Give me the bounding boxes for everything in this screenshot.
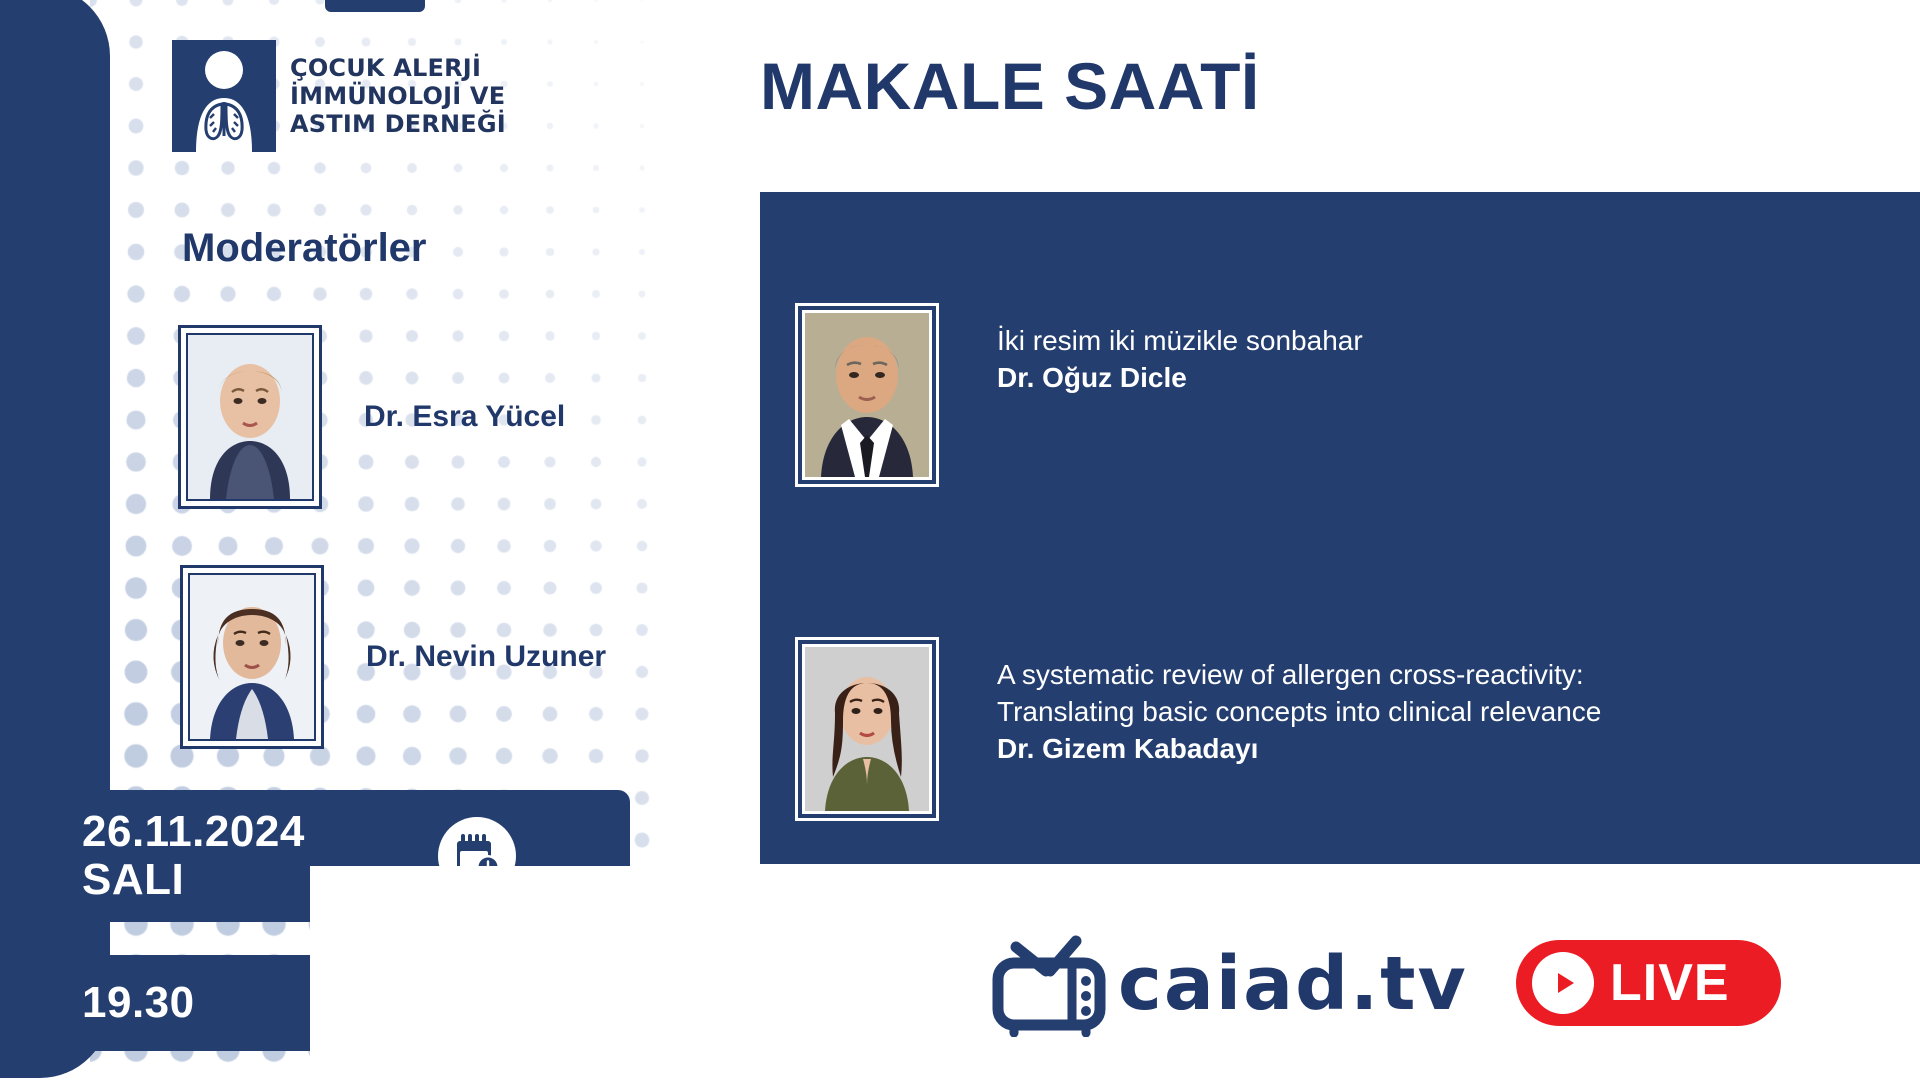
top-accent-tab (325, 0, 425, 12)
live-label: LIVE (1610, 953, 1730, 1013)
time-pill: 19.30 (0, 955, 342, 1051)
program-person: Dr. Oğuz Dicle (997, 362, 1363, 394)
moderators-heading: Moderatörler (182, 226, 427, 271)
live-badge[interactable]: LIVE (1516, 940, 1781, 1026)
event-time: 19.30 (82, 978, 195, 1028)
moderator-item: Dr. Nevin Uzuner (180, 565, 606, 749)
caiad-tv-label: caiad.tv (1118, 941, 1468, 1027)
association-logo: ÇOCUK ALERJİ İMMÜNOLOJİ VE ASTIM DERNEĞİ (172, 40, 506, 152)
program-person: Dr. Gizem Kabadayı (997, 733, 1601, 765)
program-entry: A systematic review of allergen cross-re… (795, 637, 1601, 821)
program-entry-text: A systematic review of allergen cross-re… (997, 637, 1601, 765)
program-topic: A systematic review of allergen cross-re… (997, 657, 1601, 731)
play-icon (1532, 952, 1594, 1014)
program-entry-text: İki resim iki müzikle sonbahar Dr. Oğuz … (997, 303, 1363, 394)
program-entry: İki resim iki müzikle sonbahar Dr. Oğuz … (795, 303, 1363, 487)
portrait-esra-yucel (186, 333, 314, 501)
speaker-photo-frame (795, 303, 939, 487)
poster-canvas: ÇOCUK ALERJİ İMMÜNOLOJİ VE ASTIM DERNEĞİ… (0, 0, 1920, 1080)
portrait-nevin-uzuner (188, 573, 316, 741)
program-topic: İki resim iki müzikle sonbahar (997, 323, 1363, 360)
retro-tv-icon (990, 925, 1108, 1042)
moderator-photo-frame (180, 565, 324, 749)
portrait-gizem-kabadayi (802, 644, 932, 814)
association-logo-text: ÇOCUK ALERJİ İMMÜNOLOJİ VE ASTIM DERNEĞİ (290, 54, 506, 138)
speaker-photo-frame (795, 637, 939, 821)
caiad-tv-logo[interactable]: caiad.tv (990, 925, 1468, 1042)
moderator-item: Dr. Esra Yücel (178, 325, 565, 509)
person-lungs-icon (172, 40, 276, 152)
portrait-oguz-dicle (802, 310, 932, 480)
moderator-name: Dr. Esra Yücel (364, 400, 565, 434)
moderator-name: Dr. Nevin Uzuner (366, 640, 606, 674)
event-date: 26.11.2024 SALI (82, 808, 305, 903)
page-title: MAKALE SAATİ (760, 48, 1260, 124)
moderator-photo-frame (178, 325, 322, 509)
